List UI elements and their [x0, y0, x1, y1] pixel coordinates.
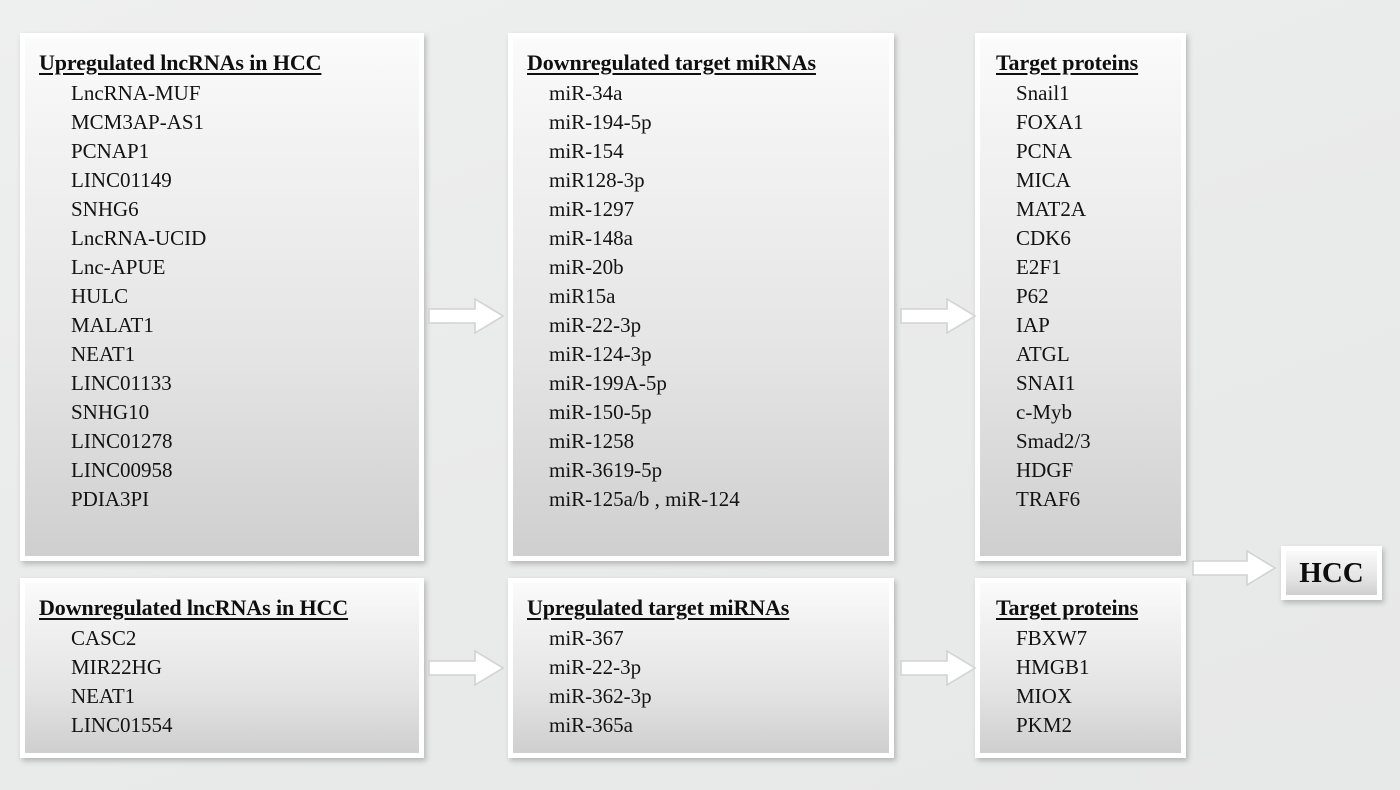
box-title-downregulated-lncrnas: Downregulated lncRNAs in HCC — [39, 595, 419, 621]
list-item: LINC00958 — [71, 456, 419, 485]
list-item: miR-362-3p — [549, 682, 889, 711]
box-upregulated-target-mirnas: Upregulated target miRNAs miR-367 miR-22… — [508, 578, 894, 758]
box-title-upregulated-lncrnas: Upregulated lncRNAs in HCC — [39, 50, 419, 76]
list-item: P62 — [1016, 282, 1181, 311]
list-upregulated-mirnas: miR-367 miR-22-3p miR-362-3p miR-365a — [513, 624, 889, 740]
list-downregulated-mirnas: miR-34a miR-194-5p miR-154 miR128-3p miR… — [513, 79, 889, 514]
list-item: LINC01278 — [71, 427, 419, 456]
diagram-canvas: Upregulated lncRNAs in HCC LncRNA-MUF MC… — [0, 0, 1400, 790]
list-item: IAP — [1016, 311, 1181, 340]
list-upregulated-lncrnas: LncRNA-MUF MCM3AP-AS1 PCNAP1 LINC01149 S… — [25, 79, 419, 514]
list-item: ATGL — [1016, 340, 1181, 369]
list-item: miR-3619-5p — [549, 456, 889, 485]
list-item: PCNAP1 — [71, 137, 419, 166]
list-item: miR-367 — [549, 624, 889, 653]
list-item: Smad2/3 — [1016, 427, 1181, 456]
list-item: SNAI1 — [1016, 369, 1181, 398]
arrow-right-icon — [428, 648, 504, 688]
list-item: FOXA1 — [1016, 108, 1181, 137]
list-item: miR-1297 — [549, 195, 889, 224]
list-item: miR128-3p — [549, 166, 889, 195]
list-item: SNHG6 — [71, 195, 419, 224]
list-item: LINC01554 — [71, 711, 419, 740]
list-item: LINC01149 — [71, 166, 419, 195]
list-item: NEAT1 — [71, 682, 419, 711]
list-item: LINC01133 — [71, 369, 419, 398]
list-item: miR-20b — [549, 253, 889, 282]
list-item: MICA — [1016, 166, 1181, 195]
arrow-right-icon — [900, 296, 976, 336]
list-item: SNHG10 — [71, 398, 419, 427]
arrow-right-icon — [900, 648, 976, 688]
box-target-proteins-top: Target proteins Snail1 FOXA1 PCNA MICA M… — [975, 33, 1186, 561]
list-item: MCM3AP-AS1 — [71, 108, 419, 137]
list-item: FBXW7 — [1016, 624, 1181, 653]
hcc-label: HCC — [1299, 559, 1363, 588]
list-item: MIOX — [1016, 682, 1181, 711]
box-title-upregulated-mirnas: Upregulated target miRNAs — [527, 595, 889, 621]
list-item: miR-194-5p — [549, 108, 889, 137]
list-item: HDGF — [1016, 456, 1181, 485]
list-item: miR-1258 — [549, 427, 889, 456]
list-item: miR-34a — [549, 79, 889, 108]
list-item: HMGB1 — [1016, 653, 1181, 682]
box-hcc-outcome: HCC — [1281, 546, 1382, 600]
list-item: miR-148a — [549, 224, 889, 253]
list-item: miR-150-5p — [549, 398, 889, 427]
list-item: PCNA — [1016, 137, 1181, 166]
box-title-target-proteins-top: Target proteins — [996, 50, 1181, 76]
list-item: NEAT1 — [71, 340, 419, 369]
list-item: miR-154 — [549, 137, 889, 166]
list-item: TRAF6 — [1016, 485, 1181, 514]
list-item: E2F1 — [1016, 253, 1181, 282]
list-item: MIR22HG — [71, 653, 419, 682]
list-item: miR-124-3p — [549, 340, 889, 369]
box-downregulated-lncrnas: Downregulated lncRNAs in HCC CASC2 MIR22… — [20, 578, 424, 758]
list-item: PKM2 — [1016, 711, 1181, 740]
list-item: miR-125a/b , miR-124 — [549, 485, 889, 514]
list-downregulated-lncrnas: CASC2 MIR22HG NEAT1 LINC01554 — [25, 624, 419, 740]
list-item: CDK6 — [1016, 224, 1181, 253]
list-item: CASC2 — [71, 624, 419, 653]
list-item: miR-199A-5p — [549, 369, 889, 398]
box-target-proteins-bottom: Target proteins FBXW7 HMGB1 MIOX PKM2 — [975, 578, 1186, 758]
box-title-target-proteins-bottom: Target proteins — [996, 595, 1181, 621]
list-item: c-Myb — [1016, 398, 1181, 427]
list-target-proteins-top: Snail1 FOXA1 PCNA MICA MAT2A CDK6 E2F1 P… — [980, 79, 1181, 514]
list-item: miR15a — [549, 282, 889, 311]
list-item: Snail1 — [1016, 79, 1181, 108]
list-item: MALAT1 — [71, 311, 419, 340]
box-upregulated-lncrnas: Upregulated lncRNAs in HCC LncRNA-MUF MC… — [20, 33, 424, 561]
list-item: miR-22-3p — [549, 653, 889, 682]
list-item: miR-22-3p — [549, 311, 889, 340]
list-item: Lnc-APUE — [71, 253, 419, 282]
box-title-downregulated-mirnas: Downregulated target miRNAs — [527, 50, 889, 76]
list-item: miR-365a — [549, 711, 889, 740]
arrow-right-icon — [1192, 548, 1276, 588]
list-item: PDIA3PI — [71, 485, 419, 514]
box-downregulated-target-mirnas: Downregulated target miRNAs miR-34a miR-… — [508, 33, 894, 561]
list-item: HULC — [71, 282, 419, 311]
list-item: LncRNA-MUF — [71, 79, 419, 108]
list-item: MAT2A — [1016, 195, 1181, 224]
list-item: LncRNA-UCID — [71, 224, 419, 253]
list-target-proteins-bottom: FBXW7 HMGB1 MIOX PKM2 — [980, 624, 1181, 740]
arrow-right-icon — [428, 296, 504, 336]
